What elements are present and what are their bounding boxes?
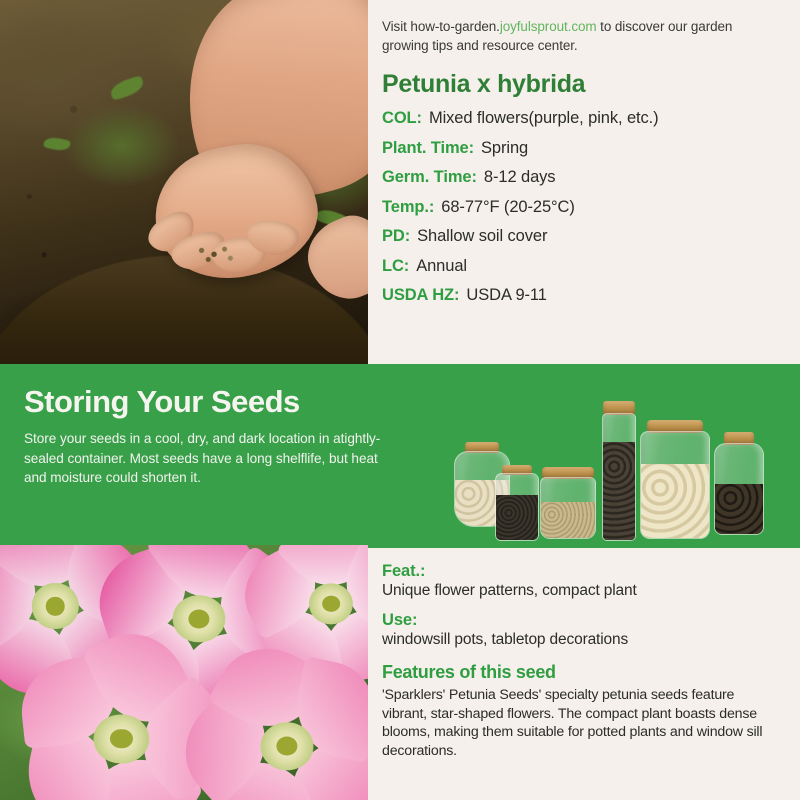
page-title: Petunia x hybrida	[382, 70, 778, 99]
spec-row-col: COL: Mixed flowers(purple, pink, etc.)	[382, 110, 778, 127]
spacer	[382, 600, 780, 611]
spec-value: Mixed flowers(purple, pink, etc.)	[429, 110, 659, 127]
spec-value: Shallow soil cover	[417, 228, 547, 245]
storing-title: Storing Your Seeds	[24, 384, 384, 420]
jar-glass	[495, 473, 539, 541]
spec-row-plant-time: Plant. Time: Spring	[382, 140, 778, 157]
jar-contents	[641, 464, 709, 538]
storing-text-block: Storing Your Seeds Store your seeds in a…	[24, 384, 384, 488]
spec-row-temp: Temp.: 68-77°F (20-25°C)	[382, 199, 778, 216]
jar-pumpkin	[640, 431, 710, 539]
flower-center	[110, 729, 132, 749]
use-label: Use:	[382, 611, 780, 630]
feat-label: Feat.:	[382, 562, 780, 581]
description-body: 'Sparklers' Petunia Seeds' specialty pet…	[382, 686, 780, 761]
seed-jars-photo	[448, 364, 800, 545]
petunia-bloom	[29, 657, 213, 800]
spec-list: COL: Mixed flowers(purple, pink, etc.) P…	[382, 110, 778, 304]
jar-glass	[540, 477, 596, 539]
flower-center	[188, 609, 209, 628]
flower-center	[322, 595, 340, 612]
spec-label: Temp.:	[382, 199, 434, 216]
spec-value: Annual	[416, 258, 467, 275]
spec-label: Plant. Time:	[382, 140, 474, 157]
flower-center	[46, 597, 65, 615]
spec-panel: Visit how-to-garden.joyfulsprout.com to …	[368, 0, 800, 364]
spec-label: PD:	[382, 228, 410, 245]
jar-glass	[602, 413, 636, 541]
top-section: Visit how-to-garden.joyfulsprout.com to …	[0, 0, 800, 364]
jar-glass	[714, 443, 764, 535]
petunia-flowers-photo	[0, 545, 368, 800]
use-value: windowsill pots, tabletop decorations	[382, 631, 780, 649]
spec-row-germ-time: Germ. Time: 8-12 days	[382, 169, 778, 186]
spec-value: Spring	[481, 140, 528, 157]
spec-value: USDA 9-11	[466, 287, 546, 304]
jar-contents	[603, 442, 635, 540]
seed-packet: Visit how-to-garden.joyfulsprout.com to …	[0, 0, 800, 800]
jar-tall	[602, 413, 636, 541]
spec-row-lc: LC: Annual	[382, 258, 778, 275]
features-panel: Feat.: Unique flower patterns, compact p…	[368, 545, 800, 800]
jar-contents	[715, 484, 763, 534]
spec-value: 8-12 days	[484, 169, 556, 186]
storing-seeds-band: Storing Your Seeds Store your seeds in a…	[0, 364, 800, 545]
spec-label: Germ. Time:	[382, 169, 477, 186]
feat-value: Unique flower patterns, compact plant	[382, 582, 780, 600]
soil-planting-photo	[0, 0, 368, 364]
website-url[interactable]: joyfulsprout.com	[500, 19, 597, 34]
storing-body: Store your seeds in a cool, dry, and dar…	[24, 429, 384, 488]
jar-contents	[541, 502, 595, 538]
flower-center	[276, 737, 297, 756]
spec-label: COL:	[382, 110, 422, 127]
spec-label: USDA HZ:	[382, 287, 459, 304]
jar-contents	[496, 495, 538, 540]
spec-label: LC:	[382, 258, 409, 275]
visit-prefix: Visit how-to-garden.	[382, 19, 500, 34]
spec-row-pd: PD: Shallow soil cover	[382, 228, 778, 245]
jar-sunflower	[714, 443, 764, 535]
description-title: Features of this seed	[382, 662, 780, 683]
jar-glass	[640, 431, 710, 539]
bottom-section: Feat.: Unique flower patterns, compact p…	[0, 545, 800, 800]
spec-row-usda-hz: USDA HZ: USDA 9-11	[382, 287, 778, 304]
visit-line: Visit how-to-garden.joyfulsprout.com to …	[382, 18, 778, 55]
seeds-in-hand	[191, 240, 239, 265]
jar-dark	[495, 473, 539, 541]
jar-sand	[540, 477, 596, 539]
petunia-bloom	[199, 667, 368, 800]
spec-value: 68-77°F (20-25°C)	[441, 199, 574, 216]
